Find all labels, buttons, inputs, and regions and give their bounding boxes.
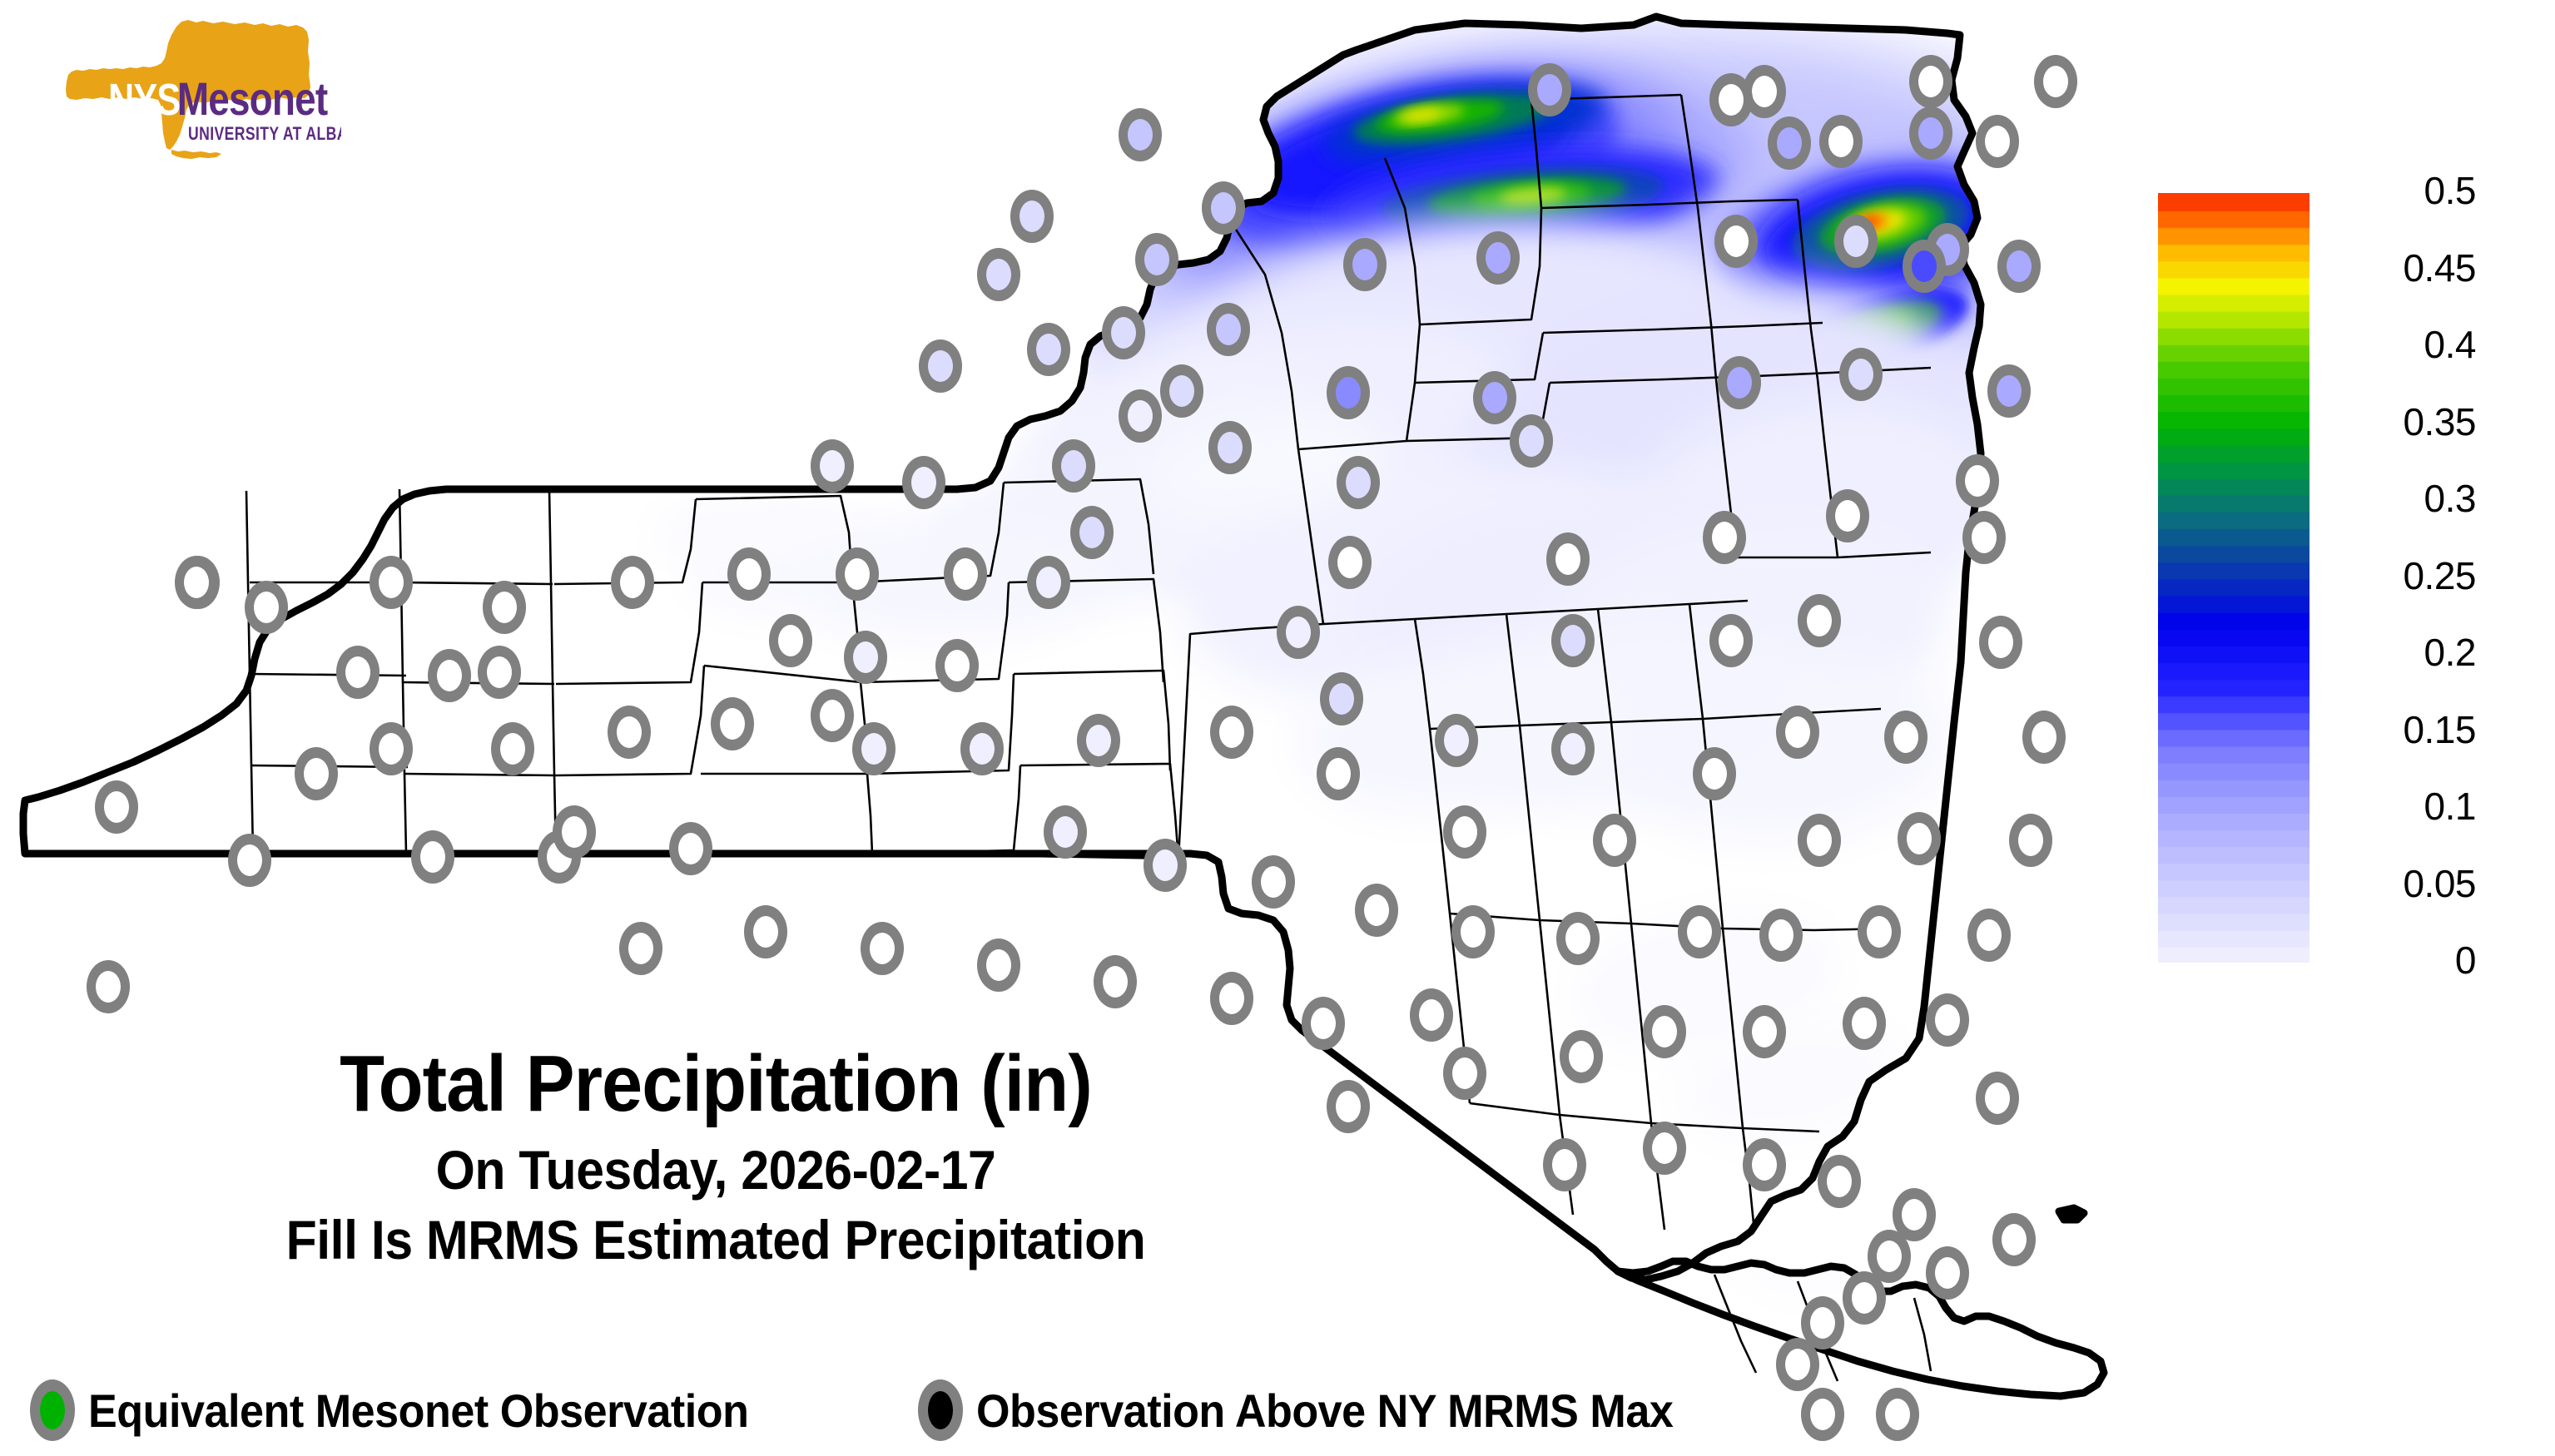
page-subtitle-source: Fill Is MRMS Estimated Precipitation: [57, 1212, 1374, 1267]
station-observation-marker[interactable]: [1410, 988, 1453, 1042]
station-observation-marker[interactable]: [1543, 1138, 1586, 1191]
station-marker-value-fill: [96, 971, 121, 1003]
station-observation-marker[interactable]: [1119, 108, 1162, 161]
station-observation-marker[interactable]: [1903, 240, 1946, 293]
station-observation-marker[interactable]: [1987, 364, 2031, 418]
station-marker-value-fill: [1020, 201, 1044, 232]
station-observation-marker[interactable]: [1094, 955, 1137, 1008]
station-observation-marker[interactable]: [1768, 116, 1811, 170]
colorbar-tick-0p2: 0.2: [2424, 633, 2476, 671]
station-observation-marker[interactable]: [1926, 993, 1969, 1047]
station-marker-value-fill: [487, 656, 512, 688]
station-observation-marker[interactable]: [553, 805, 596, 859]
station-marker-value-fill: [2043, 66, 2068, 97]
page-subtitle-date: On Tuesday, 2026-02-17: [57, 1142, 1374, 1197]
legend-item-label: Observation Above NY MRMS Max: [976, 1384, 1673, 1438]
station-observation-marker[interactable]: [1210, 972, 1253, 1025]
station-marker-value-fill: [1752, 1149, 1777, 1181]
station-observation-marker[interactable]: [977, 938, 1020, 992]
station-marker-value-fill: [1452, 1057, 1477, 1089]
station-marker-value-fill: [104, 791, 129, 823]
station-observation-marker[interactable]: [370, 556, 413, 609]
station-marker-value-fill: [1602, 825, 1627, 856]
station-marker-value-fill: [379, 567, 404, 598]
station-observation-marker[interactable]: [1435, 714, 1478, 767]
station-marker-value-fill: [853, 641, 878, 673]
station-marker-value-fill: [1652, 1132, 1677, 1164]
station-marker-value-fill: [1752, 1016, 1777, 1047]
station-observation-marker[interactable]: [95, 780, 138, 834]
station-observation-marker[interactable]: [1593, 814, 1636, 867]
station-marker-value-fill: [1364, 894, 1389, 926]
station-marker-value-fill: [620, 567, 645, 598]
station-observation-marker[interactable]: [861, 922, 904, 975]
map-legend: Equivalent Mesonet ObservationObservatio…: [15, 1375, 1829, 1445]
station-observation-marker[interactable]: [944, 547, 987, 601]
station-marker-value-fill: [1569, 1041, 1594, 1072]
station-observation-marker[interactable]: [1102, 306, 1145, 359]
station-observation-marker[interactable]: [1709, 73, 1753, 126]
station-observation-marker[interactable]: [619, 922, 662, 975]
colorbar-tick-0: 0: [2455, 941, 2476, 979]
station-observation-marker[interactable]: [1703, 511, 1746, 564]
colorbar-gradient: [2158, 193, 2309, 963]
station-observation-marker[interactable]: [935, 639, 979, 692]
station-marker-value-fill: [1419, 999, 1444, 1031]
station-observation-marker[interactable]: [1678, 905, 1721, 958]
station-observation-marker[interactable]: [902, 456, 945, 509]
station-marker-value-fill: [986, 949, 1011, 981]
station-observation-marker[interactable]: [1476, 231, 1520, 285]
station-marker-value-fill: [1935, 1004, 1960, 1036]
station-marker-value-fill: [1977, 919, 2002, 951]
station-marker-value-fill: [254, 592, 279, 623]
station-marker-value-fill: [1211, 192, 1236, 224]
station-marker-value-fill: [1843, 225, 1868, 257]
legend-marker-dot-icon: [40, 1391, 65, 1429]
station-observation-marker[interactable]: [1868, 1230, 1911, 1283]
station-observation-marker[interactable]: [1317, 747, 1360, 800]
station-marker-value-fill: [737, 558, 762, 590]
station-observation-marker[interactable]: [1320, 672, 1363, 726]
colorbar-tick-0p5: 0.5: [2424, 171, 2476, 210]
colorbar-tick-labels: 0.50.450.40.350.30.250.20.150.10.050: [2316, 171, 2524, 987]
station-observation-marker[interactable]: [1834, 215, 1878, 268]
station-marker-value-fill: [1219, 983, 1244, 1014]
station-marker-value-fill: [617, 716, 642, 748]
station-observation-marker[interactable]: [245, 581, 288, 634]
station-marker-value-fill: [1128, 119, 1153, 151]
station-observation-marker[interactable]: [1858, 905, 1901, 958]
station-marker-value-fill: [379, 733, 404, 765]
station-observation-marker[interactable]: [1510, 414, 1553, 468]
station-observation-marker[interactable]: [1160, 364, 1203, 418]
station-observation-marker[interactable]: [977, 248, 1020, 301]
station-observation-marker[interactable]: [1819, 115, 1863, 168]
station-marker-value-fill: [970, 733, 995, 765]
page-title: Total Precipitation (in): [57, 1044, 1374, 1124]
station-marker-value-fill: [1997, 375, 2022, 407]
station-observation-marker[interactable]: [852, 722, 895, 775]
station-observation-marker[interactable]: [1643, 1005, 1686, 1058]
station-marker-value-fill: [1852, 1008, 1877, 1039]
station-observation-marker[interactable]: [1327, 366, 1370, 419]
station-marker-value-fill: [1111, 317, 1136, 349]
station-observation-marker[interactable]: [844, 631, 887, 684]
station-observation-marker[interactable]: [1926, 1246, 1969, 1300]
station-observation-marker[interactable]: [1207, 303, 1250, 356]
station-observation-marker[interactable]: [1743, 1138, 1786, 1191]
station-marker-value-fill: [1807, 825, 1832, 856]
station-marker-value-fill: [628, 933, 653, 964]
station-marker-value-fill: [911, 467, 936, 498]
station-marker-value-fill: [1311, 1008, 1336, 1039]
station-marker-value-fill: [1336, 377, 1361, 409]
station-marker-value-fill: [1128, 400, 1153, 432]
station-marker-value-fill: [1985, 1082, 2010, 1114]
station-marker-value-fill: [1036, 567, 1061, 598]
station-observation-marker[interactable]: [1044, 805, 1087, 859]
station-marker-value-fill: [1712, 522, 1737, 553]
station-marker-value-fill: [1907, 823, 1932, 854]
station-marker-value-fill: [1555, 543, 1580, 575]
station-marker-value-fill: [1519, 425, 1544, 457]
station-marker-value-fill: [1852, 1282, 1877, 1314]
station-observation-marker[interactable]: [1443, 1047, 1486, 1100]
station-observation-marker[interactable]: [1528, 63, 1571, 116]
precipitation-map-page: NYS Mesonet UNIVERSITY AT ALBANY: [0, 0, 2555, 1456]
station-marker-value-fill: [1144, 244, 1169, 275]
station-observation-marker[interactable]: [1839, 348, 1883, 401]
station-observation-marker[interactable]: [1992, 1213, 2036, 1266]
station-marker-value-fill: [1169, 375, 1194, 407]
station-observation-marker[interactable]: [295, 747, 338, 800]
island-shape: [2059, 1208, 2084, 1220]
station-marker-value-fill: [1893, 721, 1918, 753]
station-marker-value-fill: [1687, 916, 1712, 948]
station-marker-value-fill: [184, 567, 209, 598]
station-marker-value-fill: [1261, 866, 1286, 898]
station-observation-marker[interactable]: [1135, 233, 1178, 286]
station-marker-value-fill: [1719, 84, 1744, 116]
station-observation-marker[interactable]: [1997, 240, 2041, 293]
station-observation-marker[interactable]: [836, 547, 879, 601]
station-marker-value-fill: [1053, 816, 1078, 848]
station-observation-marker[interactable]: [744, 905, 787, 958]
station-marker-value-fill: [1086, 725, 1111, 756]
station-marker-value-fill: [953, 558, 978, 590]
station-marker-value-fill: [1153, 849, 1178, 881]
station-observation-marker[interactable]: [483, 581, 526, 634]
station-marker-value-fill: [1565, 923, 1590, 954]
station-observation-marker[interactable]: [769, 614, 812, 667]
station-marker-value-fill: [820, 450, 845, 482]
station-observation-marker[interactable]: [478, 646, 521, 699]
legend-marker-ring-icon: [30, 1379, 75, 1441]
county-boundary: [399, 489, 406, 854]
station-marker-value-fill: [753, 916, 778, 948]
station-observation-marker[interactable]: [1252, 855, 1295, 909]
station-observation-marker[interactable]: [411, 830, 454, 884]
station-observation-marker[interactable]: [1798, 594, 1841, 647]
station-marker-value-fill: [1719, 625, 1744, 656]
station-observation-marker[interactable]: [1343, 238, 1387, 291]
station-observation-marker[interactable]: [1826, 489, 1869, 542]
station-observation-marker[interactable]: [1337, 456, 1380, 509]
station-marker-value-fill: [1452, 816, 1477, 848]
station-observation-marker[interactable]: [1643, 1122, 1686, 1175]
station-marker-value-fill: [1337, 547, 1362, 578]
legend-marker-ring-icon: [918, 1379, 963, 1441]
colorbar: 0.50.450.40.350.30.250.20.150.10.050: [2158, 193, 2524, 963]
station-observation-marker[interactable]: [811, 689, 854, 742]
station-marker-value-fill: [1461, 916, 1486, 948]
station-marker-value-fill: [1877, 1241, 1902, 1272]
station-marker-value-fill: [1902, 1199, 1927, 1231]
station-marker-value-fill: [778, 625, 803, 656]
colorbar-tick-0p4: 0.4: [2424, 325, 2476, 364]
station-marker-value-fill: [870, 933, 895, 964]
station-observation-marker[interactable]: [1560, 1030, 1603, 1083]
station-observation-marker[interactable]: [2022, 711, 2066, 764]
station-marker-value-fill: [1346, 467, 1371, 498]
station-observation-marker[interactable]: [1208, 421, 1252, 474]
station-marker-value-fill: [1777, 127, 1802, 159]
station-observation-marker[interactable]: [960, 722, 1004, 775]
station-observation-marker[interactable]: [1718, 356, 1761, 409]
station-observation-marker[interactable]: [1077, 714, 1120, 767]
station-observation-marker[interactable]: [1843, 997, 1886, 1050]
station-marker-value-fill: [1727, 367, 1752, 399]
station-observation-marker[interactable]: [1967, 909, 2011, 962]
station-observation-marker[interactable]: [1473, 371, 1516, 424]
station-marker-value-fill: [2007, 250, 2032, 282]
station-observation-marker[interactable]: [1909, 55, 1952, 108]
station-observation-marker[interactable]: [87, 960, 130, 1013]
station-observation-marker[interactable]: [1556, 912, 1600, 965]
station-marker-value-fill: [1560, 625, 1585, 656]
station-observation-marker[interactable]: [1010, 190, 1054, 243]
station-marker-value-fill: [237, 844, 262, 876]
station-marker-value-fill: [2002, 1224, 2027, 1255]
station-observation-marker[interactable]: [1801, 1296, 1844, 1350]
station-observation-marker[interactable]: [1443, 805, 1486, 859]
station-observation-marker[interactable]: [1976, 1072, 2019, 1125]
colorbar-tick-0p25: 0.25: [2403, 557, 2476, 595]
station-observation-marker[interactable]: [1551, 614, 1595, 667]
station-observation-marker[interactable]: [228, 834, 271, 887]
station-observation-marker[interactable]: [1070, 506, 1114, 559]
station-marker-value-fill: [2032, 721, 2056, 753]
station-marker-value-fill: [1918, 66, 1943, 97]
station-observation-marker[interactable]: [1818, 1155, 1861, 1208]
station-observation-marker[interactable]: [370, 722, 413, 775]
station-marker-value-fill: [845, 558, 870, 590]
station-marker-value-fill: [1988, 626, 2013, 658]
station-marker-value-fill: [420, 841, 445, 873]
station-marker-value-fill: [562, 816, 587, 848]
station-marker-value-fill: [1885, 1399, 1910, 1430]
legend-item-above-mrms-max: Observation Above NY MRMS Max: [918, 1375, 1725, 1445]
county-boundary: [250, 674, 406, 676]
station-observation-marker[interactable]: [1776, 706, 1819, 759]
station-marker-value-fill: [1702, 758, 1727, 790]
station-observation-marker[interactable]: [1956, 454, 1999, 508]
station-marker-value-fill: [1486, 242, 1511, 274]
station-marker-value-fill: [1848, 359, 1873, 390]
station-marker-value-fill: [678, 833, 703, 864]
station-observation-marker[interactable]: [1759, 909, 1803, 962]
county-boundary: [403, 682, 554, 684]
station-observation-marker[interactable]: [1962, 511, 2006, 564]
station-observation-marker[interactable]: [1743, 1005, 1786, 1058]
station-marker-value-fill: [1061, 450, 1086, 482]
station-observation-marker[interactable]: [1027, 323, 1070, 376]
station-marker-value-fill: [304, 758, 329, 790]
station-observation-marker[interactable]: [1714, 215, 1758, 268]
station-marker-value-fill: [1827, 1166, 1852, 1197]
station-observation-marker[interactable]: [1144, 839, 1187, 892]
title-block: Total Precipitation (in) On Tuesday, 202…: [0, 1044, 1431, 1267]
station-observation-marker[interactable]: [2009, 814, 2052, 867]
station-marker-value-fill: [720, 708, 745, 740]
station-observation-marker[interactable]: [428, 649, 471, 702]
station-marker-value-fill: [1286, 617, 1311, 648]
station-observation-marker[interactable]: [1693, 747, 1736, 800]
station-marker-value-fill: [1036, 334, 1061, 365]
station-observation-marker[interactable]: [608, 706, 651, 759]
station-marker-value-fill: [1103, 966, 1128, 998]
station-observation-marker[interactable]: [1451, 905, 1495, 958]
station-marker-value-fill: [1972, 522, 1997, 553]
station-observation-marker[interactable]: [1052, 439, 1095, 493]
station-marker-value-fill: [1326, 758, 1351, 790]
station-observation-marker[interactable]: [1210, 706, 1253, 759]
county-boundary: [549, 489, 556, 854]
station-observation-marker[interactable]: [1302, 997, 1345, 1050]
station-observation-marker[interactable]: [1119, 389, 1162, 443]
station-marker-value-fill: [1785, 716, 1810, 748]
station-marker-value-fill: [1079, 517, 1104, 548]
station-observation-marker[interactable]: [1909, 106, 1952, 160]
station-observation-marker[interactable]: [1898, 812, 1941, 865]
station-marker-value-fill: [861, 733, 886, 765]
county-boundary: [404, 774, 556, 775]
station-marker-value-fill: [492, 592, 517, 623]
county-boundary: [1540, 920, 1560, 1115]
station-marker-value-fill: [1769, 919, 1793, 951]
station-marker-value-fill: [1560, 733, 1585, 765]
station-observation-marker[interactable]: [919, 339, 962, 393]
colorbar-tick-0p35: 0.35: [2403, 403, 2476, 441]
station-observation-marker[interactable]: [1976, 115, 2019, 168]
station-observation-marker[interactable]: [491, 722, 534, 775]
colorbar-tick-0p15: 0.15: [2403, 711, 2476, 749]
station-marker-value-fill: [1482, 382, 1507, 414]
station-marker-value-fill: [1965, 465, 1990, 497]
legend-item-label: Equivalent Mesonet Observation: [88, 1384, 748, 1438]
station-marker-value-fill: [1219, 716, 1244, 748]
county-boundary: [399, 582, 553, 584]
station-marker-value-fill: [820, 700, 845, 731]
station-marker-value-fill: [2018, 825, 2043, 856]
station-marker-value-fill: [1218, 432, 1243, 463]
station-observation-marker[interactable]: [1355, 884, 1398, 937]
station-marker-value-fill: [1918, 117, 1943, 149]
station-marker-value-fill: [945, 650, 970, 681]
station-observation-marker[interactable]: [711, 697, 754, 750]
station-marker-value-fill: [1810, 1307, 1835, 1339]
station-observation-marker[interactable]: [1202, 181, 1245, 235]
station-observation-marker[interactable]: [669, 822, 712, 875]
station-observation-marker[interactable]: [336, 646, 380, 699]
station-marker-value-fill: [986, 259, 1011, 290]
county-boundary: [701, 774, 872, 854]
station-marker-value-fill: [1935, 1257, 1960, 1289]
station-observation-marker[interactable]: [1551, 722, 1595, 775]
colorbar-tick-0p05: 0.05: [2403, 864, 2476, 903]
station-marker-value-fill: [437, 660, 462, 691]
station-observation-marker[interactable]: [1277, 606, 1320, 659]
station-marker-value-fill: [1807, 605, 1832, 636]
station-observation-marker[interactable]: [1798, 814, 1841, 867]
county-boundary: [872, 765, 1020, 854]
station-observation-marker[interactable]: [1876, 1388, 1919, 1441]
station-observation-marker[interactable]: [611, 556, 654, 609]
station-observation-marker[interactable]: [1979, 616, 2022, 669]
station-marker-value-fill: [1444, 725, 1469, 756]
station-marker-value-fill: [1652, 1016, 1677, 1047]
station-marker-value-fill: [1552, 1149, 1577, 1181]
station-observation-marker[interactable]: [811, 439, 854, 493]
station-observation-marker[interactable]: [1709, 614, 1753, 667]
colorbar-tick-0p1: 0.1: [2424, 787, 2476, 825]
station-marker-value-fill: [500, 733, 525, 765]
station-marker-value-fill: [1828, 126, 1853, 157]
station-marker-value-fill: [1985, 126, 2010, 157]
station-marker-value-fill: [1912, 250, 1937, 282]
station-marker-value-fill: [345, 656, 370, 688]
station-marker-value-fill: [1724, 225, 1749, 257]
station-observation-marker[interactable]: [1546, 532, 1590, 586]
station-observation-marker[interactable]: [1328, 536, 1372, 589]
station-observation-marker[interactable]: [175, 556, 218, 609]
legend-marker-dot-icon: [928, 1391, 953, 1429]
station-observation-marker[interactable]: [1884, 711, 1927, 764]
colorbar-tick-0p45: 0.45: [2403, 249, 2476, 287]
legend-item-equivalent-observation: Equivalent Mesonet Observation: [30, 1375, 798, 1445]
station-marker-value-fill: [1352, 249, 1377, 280]
station-marker-value-fill: [1867, 916, 1892, 948]
station-marker-value-fill: [1537, 74, 1562, 106]
county-boundary: [1914, 1298, 1931, 1371]
station-observation-marker[interactable]: [727, 547, 771, 601]
station-marker-value-fill: [1752, 76, 1777, 107]
station-observation-marker[interactable]: [2034, 55, 2077, 108]
station-observation-marker[interactable]: [1027, 556, 1070, 609]
station-marker-value-fill: [928, 350, 953, 382]
station-marker-value-fill: [1216, 314, 1241, 345]
station-marker-value-fill: [1329, 683, 1354, 715]
station-marker-value-fill: [1835, 500, 1860, 532]
colorbar-tick-0p3: 0.3: [2424, 479, 2476, 518]
